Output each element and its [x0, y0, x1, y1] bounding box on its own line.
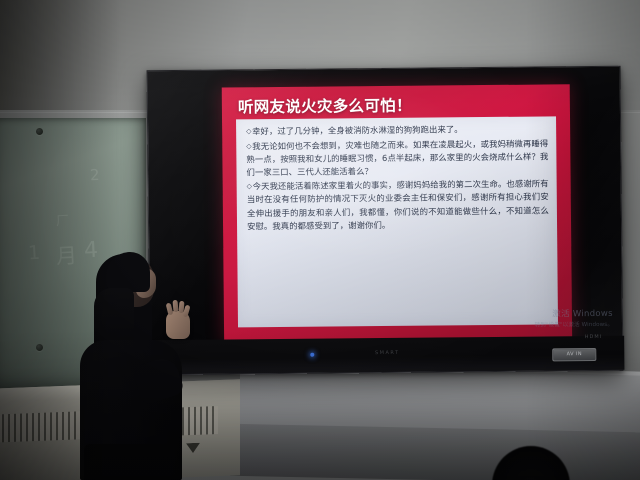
display-brandplate: AV IN	[552, 348, 596, 361]
slide-body-text: ◇幸好，过了几分钟，全身被消防水淋湿的狗狗跑出来了。 ◇我无论如何也不会想到，灾…	[246, 122, 549, 234]
chalk-mark: 2	[90, 166, 101, 185]
display-center-logo: SMART	[375, 350, 400, 356]
presenter-hair-front	[106, 252, 150, 292]
floor-band	[230, 424, 640, 480]
chalk-mark: 月	[55, 239, 79, 270]
chalkboard-screw-top	[36, 128, 43, 135]
slide-paragraph: ◇我无论如何也不会想到，灾难也随之而来。如果在凌晨起火，或我妈稍微再睡得熟一点，…	[246, 137, 548, 179]
bullet-icon: ◇	[246, 142, 252, 150]
slide-paragraph: ◇幸好，过了几分钟，全身被消防水淋湿的狗狗跑出来了。	[246, 122, 548, 138]
bullet-icon: ◇	[247, 183, 253, 191]
chalkboard-screw-bottom	[36, 344, 43, 351]
chalk-mark: 厂	[56, 210, 71, 230]
presentation-slide: 听网友说火灾多么可怕！ ◇幸好，过了几分钟，全身被消防水淋湿的狗狗跑出来了。 ◇…	[222, 84, 572, 342]
power-indicator-led	[310, 353, 314, 357]
slide-paragraph-text: 我无论如何也不会想到，灾难也随之而来。如果在凌晨起火，或我妈稍微再睡得熟一点，按…	[246, 138, 548, 177]
presenter-speaker	[78, 248, 228, 480]
slide-paragraph: ◇今天我还能活着陈述家里着火的事实，感谢妈妈给我的第二次生命。也感谢所有当时在没…	[247, 178, 549, 233]
slide-content-panel: ◇幸好，过了几分钟，全身被消防水淋湿的狗狗跑出来了。 ◇我无论如何也不会想到，灾…	[236, 116, 558, 327]
bullet-icon: ◇	[246, 127, 252, 135]
classroom-photo-scene: 2 厂 1 月 4 听网友说火灾多么可怕！ ◇幸好，过了几分钟，全身被消防水淋湿…	[0, 0, 640, 480]
slide-title: 听网友说火灾多么可怕！	[238, 94, 412, 118]
presenter-hand	[166, 311, 190, 339]
slide-paragraph-text: 幸好，过了几分钟，全身被消防水淋湿的狗狗跑出来了。	[252, 124, 463, 136]
presenter-finger	[172, 300, 178, 312]
presenter-lower-body	[84, 444, 170, 480]
chalk-mark: 1	[27, 242, 41, 265]
display-port-label: HDMI	[585, 334, 602, 340]
slide-paragraph-text: 今天我还能活着陈述家里着火的事实，感谢妈妈给我的第二次生命。也感谢所有当时在没有…	[247, 179, 549, 231]
